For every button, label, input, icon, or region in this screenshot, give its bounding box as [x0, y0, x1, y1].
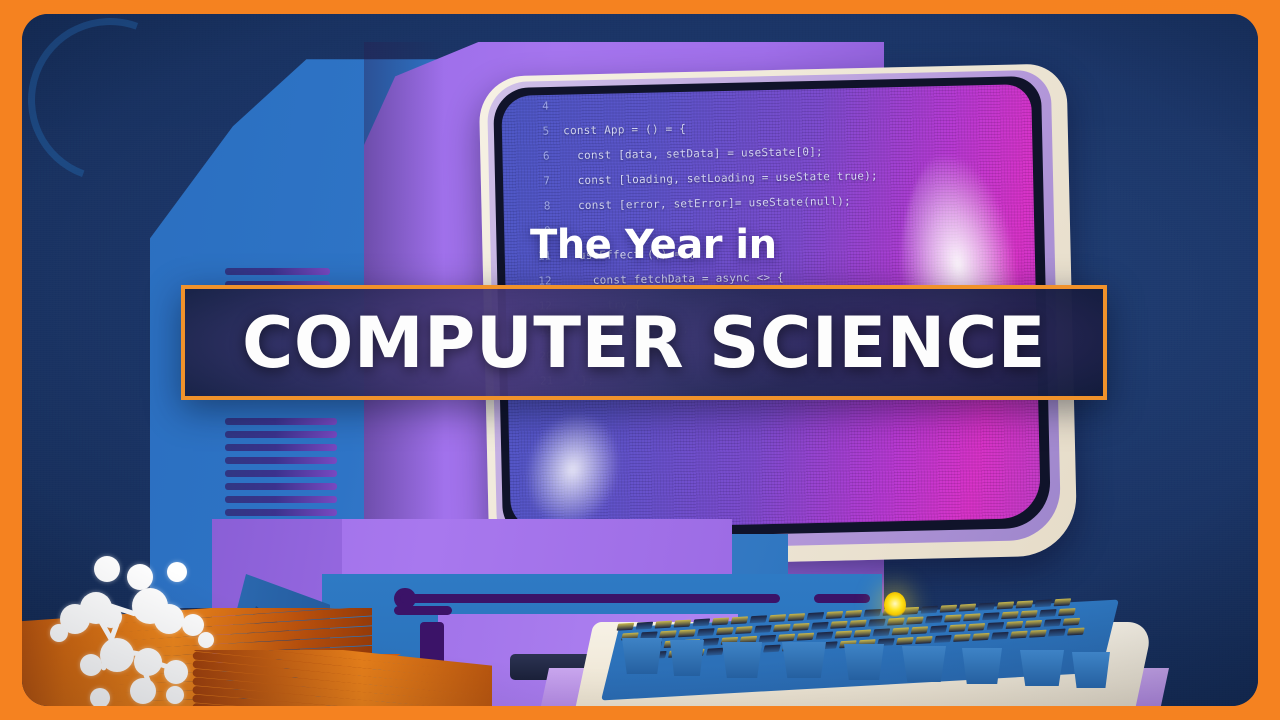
title-banner: COMPUTER SCIENCE: [181, 285, 1107, 400]
keyboard-key-face: [622, 638, 662, 674]
artwork-stage: 45const App = () = {6 const [data, setDa…: [22, 14, 1258, 706]
thumbnail-root: 45const App = () = {6 const [data, setDa…: [0, 0, 1280, 720]
keyboard-key-face: [844, 644, 884, 680]
keyboard-key-face: [670, 640, 704, 676]
keyboard-key-face: [722, 642, 762, 678]
page-title: COMPUTER SCIENCE: [242, 308, 1046, 378]
keyboard-key-face: [962, 648, 1002, 684]
kicker-text: The Year in: [530, 222, 830, 268]
keyboard-key-face: [1020, 650, 1064, 686]
keyboard-key-face: [782, 642, 826, 678]
keyboard-key-face: [902, 646, 946, 682]
keyboard-key-face: [1072, 652, 1110, 688]
